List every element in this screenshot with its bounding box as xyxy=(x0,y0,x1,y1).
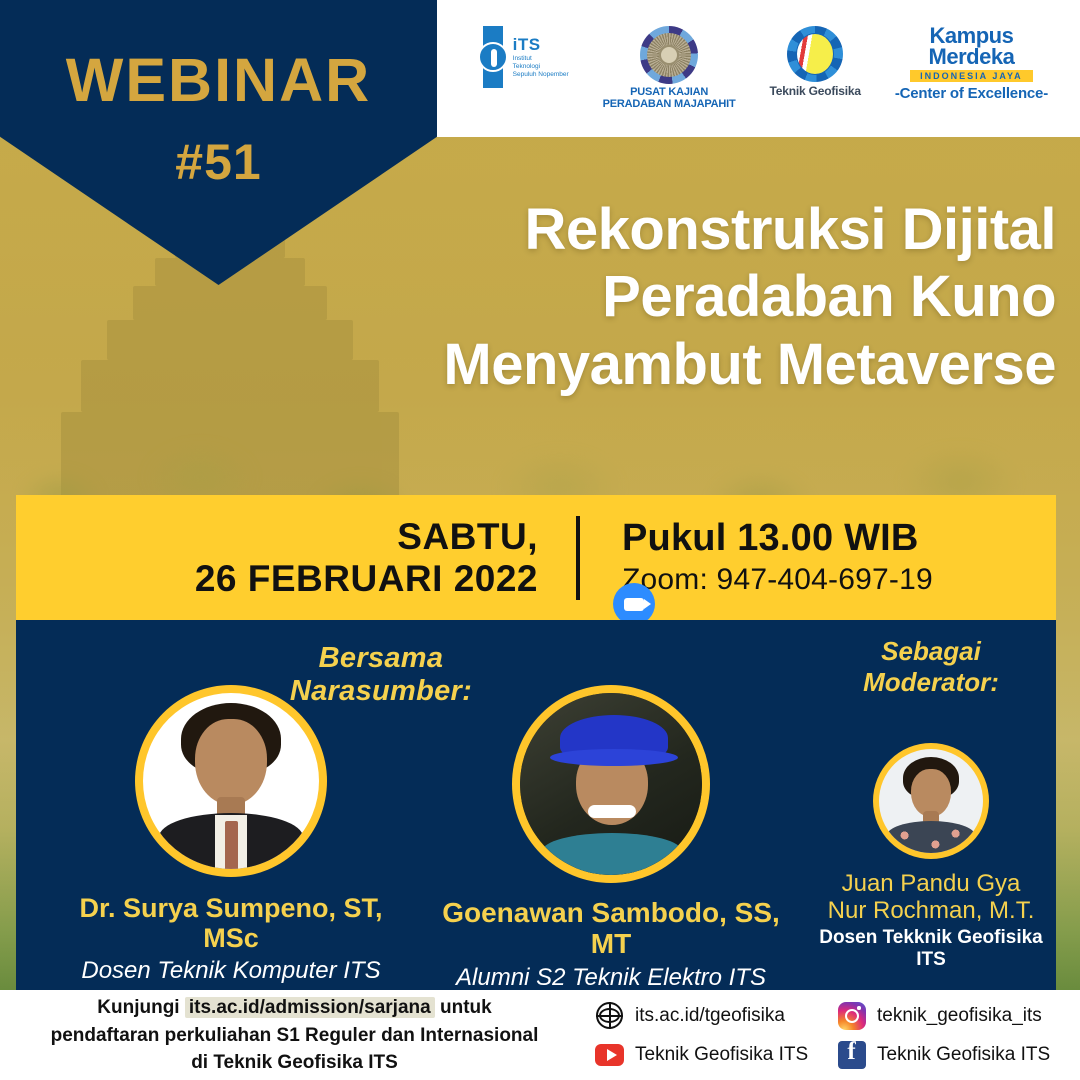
youtube-icon xyxy=(595,1040,624,1069)
geofisika-globe-gear-icon xyxy=(787,26,843,82)
website-text: its.ac.id/tgeofisika xyxy=(635,1005,785,1027)
speaker-2-avatar xyxy=(512,685,710,883)
social-links: its.ac.id/tgeofisika teknik_geofisika_it… xyxy=(595,996,1065,1074)
kampus-merdeka-ribbon: INDONESIA JAYA xyxy=(910,70,1033,82)
instagram-icon xyxy=(837,1001,866,1030)
social-row-1: its.ac.id/tgeofisika teknik_geofisika_it… xyxy=(595,996,1065,1035)
zoom-meeting-id: Zoom: 947-404-697-19 xyxy=(622,562,933,598)
moderator-avatar xyxy=(873,743,989,859)
pusat-kajian-peradaban-majapahit-logo: PUSAT KAJIAN PERADABAN MAJAPAHIT xyxy=(603,26,736,110)
social-row-2: Teknik Geofisika ITS Teknik Geofisika IT… xyxy=(595,1035,1065,1074)
date-line-2: 26 FEBRUARI 2022 xyxy=(16,558,538,599)
teknik-geofisika-caption: Teknik Geofisika xyxy=(770,85,861,98)
moderator-label-line1: Sebagai xyxy=(816,636,1046,667)
facebook-icon xyxy=(837,1040,866,1069)
globe-icon xyxy=(595,1001,624,1030)
speaker-1-avatar xyxy=(135,685,327,877)
speaker-2: Goenawan Sambodo, SS, MT Alumni S2 Tekni… xyxy=(441,685,781,991)
footer: Kunjungi its.ac.id/admission/sarjana unt… xyxy=(0,990,1080,1080)
cta-prefix: Kunjungi xyxy=(97,997,179,1018)
webinar-label: WEBINAR xyxy=(66,50,371,111)
title-line-3: Menyambut Metaverse xyxy=(366,331,1056,398)
moderator-label: Sebagai Moderator: xyxy=(816,636,1046,698)
title-line-2: Peradaban Kuno xyxy=(366,263,1056,330)
its-mark-icon xyxy=(478,26,508,88)
moderator: Juan Pandu Gya Nur Rochman, M.T. Dosen T… xyxy=(816,743,1046,970)
its-logo-sub-2: Teknologi xyxy=(513,63,569,71)
webinar-poster: iTS Institut Teknologi Sepuluh Nopember … xyxy=(0,0,1080,1080)
moderator-name: Juan Pandu Gya Nur Rochman, M.T. xyxy=(816,871,1046,925)
its-logo: iTS Institut Teknologi Sepuluh Nopember xyxy=(478,26,569,88)
youtube-text: Teknik Geofisika ITS xyxy=(635,1044,808,1066)
majapahit-medallion-icon xyxy=(640,26,698,84)
schedule-band: SABTU, 26 FEBRUARI 2022 Pukul 13.00 WIB … xyxy=(16,495,1056,620)
moderator-label-line2: Moderator: xyxy=(816,667,1046,698)
kampus-merdeka-logo: Kampus Merdeka INDONESIA JAYA -Center of… xyxy=(895,26,1048,102)
its-logo-sub-1: Institut xyxy=(513,55,569,63)
speaker-1-name: Dr. Surya Sumpeno, ST, MSc xyxy=(61,893,401,953)
majapahit-caption-line2: PERADABAN MAJAPAHIT xyxy=(603,99,736,111)
instagram-link[interactable]: teknik_geofisika_its xyxy=(837,1001,1065,1030)
title-line-1: Rekonstruksi Dijital xyxy=(366,196,1056,263)
moderator-name-line1: Juan Pandu Gya xyxy=(816,871,1046,898)
registration-cta: Kunjungi its.ac.id/admission/sarjana unt… xyxy=(22,994,567,1077)
admission-link[interactable]: its.ac.id/admission/sarjana xyxy=(185,997,435,1018)
date-line-1: SABTU, xyxy=(16,516,538,557)
teknik-geofisika-logo: Teknik Geofisika xyxy=(770,26,861,98)
speaker-1: Dr. Surya Sumpeno, ST, MSc Dosen Teknik … xyxy=(61,685,401,985)
webinar-number: #51 xyxy=(175,137,261,187)
cta-line-3: di Teknik Geofisika ITS xyxy=(22,1049,567,1077)
speakers-panel: Bersama Narasumber: Sebagai Moderator: D… xyxy=(16,620,1056,990)
kampus-merdeka-line2: Merdeka xyxy=(929,47,1015,68)
speaker-2-name: Goenawan Sambodo, SS, MT xyxy=(441,897,781,960)
instagram-text: teknik_geofisika_its xyxy=(877,1005,1042,1027)
poster-title: Rekonstruksi Dijital Peradaban Kuno Meny… xyxy=(366,196,1056,398)
facebook-text: Teknik Geofisika ITS xyxy=(877,1044,1050,1066)
moderator-name-line2: Nur Rochman, M.T. xyxy=(816,898,1046,925)
website-link[interactable]: its.ac.id/tgeofisika xyxy=(595,1001,837,1030)
its-logo-sub-3: Sepuluh Nopember xyxy=(513,71,569,79)
logo-row: iTS Institut Teknologi Sepuluh Nopember … xyxy=(478,26,1048,110)
its-logo-title: iTS xyxy=(513,36,569,53)
facebook-link[interactable]: Teknik Geofisika ITS xyxy=(837,1040,1065,1069)
center-of-excellence-caption: -Center of Excellence- xyxy=(895,86,1048,102)
cta-suffix: untuk xyxy=(440,997,492,1018)
moderator-role: Dosen Tekknik Geofisika ITS xyxy=(816,927,1046,971)
speaker-1-role: Dosen Teknik Komputer ITS xyxy=(61,957,401,985)
speaker-2-role: Alumni S2 Teknik Elektro ITS xyxy=(441,964,781,992)
date-block: SABTU, 26 FEBRUARI 2022 xyxy=(16,516,576,599)
youtube-link[interactable]: Teknik Geofisika ITS xyxy=(595,1040,837,1069)
time-text: Pukul 13.00 WIB xyxy=(622,517,933,561)
cta-line-2: pendaftaran perkuliahan S1 Reguler dan I… xyxy=(22,1022,567,1050)
zoom-camera-icon xyxy=(613,583,655,625)
